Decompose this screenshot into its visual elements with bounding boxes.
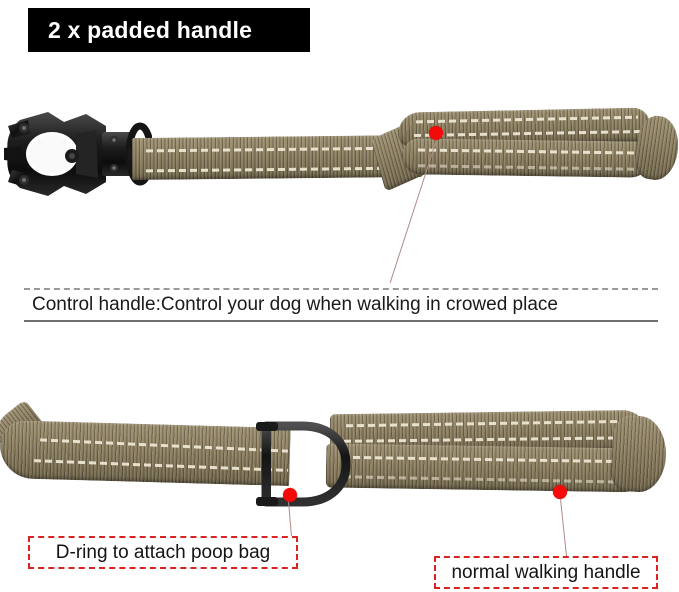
leash-strap-lower [0, 420, 291, 486]
normal-handle-caption-box: normal walking handle [434, 556, 658, 589]
padded-walking-handle-lower [326, 443, 649, 492]
walking-handle-marker [553, 485, 567, 499]
normal-handle-caption-text: normal walking handle [451, 562, 640, 584]
metal-snap-clasp-icon [2, 100, 152, 210]
d-ring-caption-text: D-ring to attach poop bag [56, 542, 270, 564]
control-handle-caption-text: Control handle:Control your dog when wal… [24, 294, 558, 316]
walking-loop-fold-end [610, 415, 668, 494]
banner-title: 2 x padded handle [48, 17, 252, 44]
d-ring-marker [283, 488, 297, 502]
control-handle-section [0, 92, 679, 212]
header-banner: 2 x padded handle [28, 8, 310, 52]
control-handle-caption: Control handle:Control your dog when wal… [24, 288, 658, 322]
infographic-canvas: 2 x padded handle [0, 0, 679, 592]
padded-control-handle-lower [402, 138, 652, 177]
control-handle-marker [429, 126, 443, 140]
black-d-ring [250, 420, 358, 508]
d-ring-caption-box: D-ring to attach poop bag [28, 536, 298, 569]
